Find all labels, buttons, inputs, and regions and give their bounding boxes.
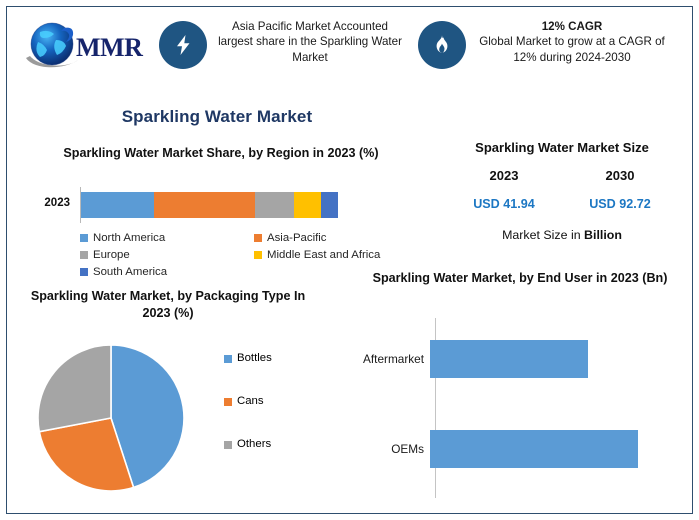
legend-swatch-bottles <box>224 355 232 363</box>
region-segment-mea[interactable] <box>294 192 321 218</box>
region-stacked-bar[interactable] <box>81 192 338 218</box>
legend-swatch-asia-pacific <box>254 234 262 242</box>
pie-slice-others[interactable] <box>38 345 111 432</box>
market-size-values: USD 41.94 USD 92.72 <box>432 197 692 211</box>
page-title: Sparkling Water Market <box>0 107 434 127</box>
market-size-year-base: 2023 <box>451 168 558 183</box>
brand-name: MMR <box>76 35 142 61</box>
end-user-row-oems: OEMs <box>336 430 692 468</box>
packaging-chart-legend: Bottles Cans Others <box>224 352 324 481</box>
packaging-chart-title: Sparkling Water Market, by Packaging Typ… <box>18 288 318 323</box>
end-user-row-aftermarket: Aftermarket <box>336 340 692 378</box>
pie-svg <box>36 343 186 493</box>
end-user-bar-aftermarket[interactable] <box>430 340 588 378</box>
market-size-panel: Sparkling Water Market Size 2023 2030 US… <box>432 140 692 265</box>
legend-item: Others <box>224 438 324 481</box>
legend-swatch-europe <box>80 251 88 259</box>
header-cagr-block: 12% CAGR Global Market to grow at a CAGR… <box>418 7 667 85</box>
end-user-chart-title: Sparkling Water Market, by End User in 2… <box>350 270 690 287</box>
legend-item: Europe <box>80 246 254 263</box>
packaging-type-chart: Sparkling Water Market, by Packaging Typ… <box>8 288 328 514</box>
legend-item: Bottles <box>224 352 324 395</box>
market-size-value-forecast: USD 92.72 <box>567 197 674 211</box>
region-chart-plot: 2023 <box>14 187 428 223</box>
header-highlight-text: Asia Pacific Market Accounted largest sh… <box>218 19 402 65</box>
market-size-title: Sparkling Water Market Size <box>432 140 692 155</box>
legend-label: Asia-Pacific <box>267 232 327 244</box>
end-user-chart: Sparkling Water Market, by End User in 2… <box>336 270 692 514</box>
region-segment-north-america[interactable] <box>81 192 154 218</box>
region-segment-europe[interactable] <box>255 192 294 218</box>
market-size-years: 2023 2030 <box>432 168 692 183</box>
legend-label: North America <box>93 232 165 244</box>
region-segment-south-america[interactable] <box>321 192 338 218</box>
region-category-label: 2023 <box>18 197 70 209</box>
lightning-bolt-icon <box>159 21 207 69</box>
legend-item: Cans <box>224 395 324 438</box>
legend-item: North America <box>80 229 254 246</box>
header-bar: MMR Asia Pacific Market Accounted larges… <box>7 7 692 85</box>
header-cagr-text: 12% CAGR Global Market to grow at a CAGR… <box>477 19 667 65</box>
legend-label: South America <box>93 266 167 278</box>
market-size-unit-prefix: Market Size in <box>502 228 584 242</box>
legend-item: Asia-Pacific <box>254 229 428 246</box>
legend-item: Middle East and Africa <box>254 246 428 263</box>
cagr-value: 12% CAGR <box>477 19 667 34</box>
market-size-value-base: USD 41.94 <box>451 197 558 211</box>
legend-swatch-cans <box>224 398 232 406</box>
legend-label: Bottles <box>237 352 272 364</box>
end-user-chart-plot: Aftermarket OEMs <box>336 318 692 498</box>
market-size-unit-note: Market Size in Billion <box>432 228 692 242</box>
legend-label: Others <box>237 438 271 450</box>
packaging-pie[interactable] <box>36 343 186 493</box>
infographic-root: MMR Asia Pacific Market Accounted larges… <box>0 0 699 520</box>
legend-swatch-south-america <box>80 268 88 276</box>
legend-swatch-others <box>224 441 232 449</box>
legend-item: South America <box>80 263 254 280</box>
legend-label: Cans <box>237 395 264 407</box>
header-highlight-block: Asia Pacific Market Accounted largest sh… <box>159 7 402 85</box>
legend-swatch-north-america <box>80 234 88 242</box>
brand-logo[interactable]: MMR <box>7 7 159 85</box>
region-share-chart: Sparkling Water Market Share, by Region … <box>14 145 428 285</box>
legend-label: Middle East and Africa <box>267 249 380 261</box>
flame-icon <box>418 21 466 69</box>
end-user-bar-oems[interactable] <box>430 430 638 468</box>
end-user-label: OEMs <box>336 442 430 456</box>
region-chart-title: Sparkling Water Market Share, by Region … <box>14 145 428 162</box>
end-user-label: Aftermarket <box>336 352 430 366</box>
legend-swatch-mea <box>254 251 262 259</box>
market-size-year-forecast: 2030 <box>567 168 674 183</box>
region-segment-asia-pacific[interactable] <box>154 192 255 218</box>
cagr-description: Global Market to grow at a CAGR of 12% d… <box>479 35 665 63</box>
market-size-unit: Billion <box>584 228 622 242</box>
legend-label: Europe <box>93 249 130 261</box>
